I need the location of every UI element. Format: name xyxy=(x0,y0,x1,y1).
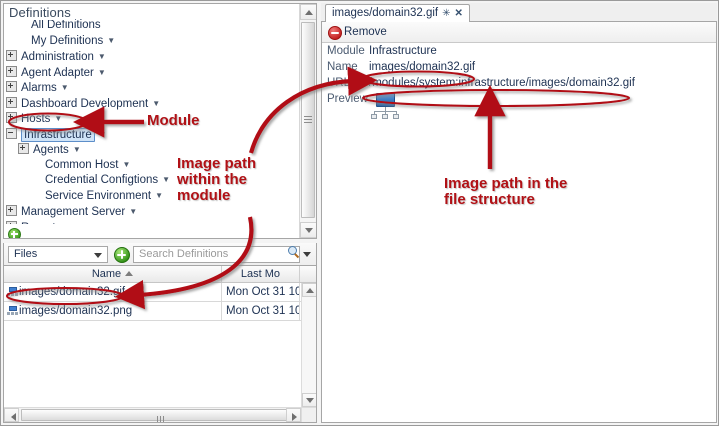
collapse-icon[interactable] xyxy=(6,128,17,139)
tree-item-label: Agent Adapter xyxy=(21,67,94,79)
chevron-down-icon xyxy=(306,398,314,403)
grip-icon xyxy=(157,413,166,423)
definitions-panel: Definitions All DefinitionsMy Definition… xyxy=(3,3,317,239)
column-header-name-label: Name xyxy=(92,268,121,280)
application-window: Definitions All DefinitionsMy Definition… xyxy=(0,0,719,426)
chevron-down-icon[interactable]: ▼ xyxy=(65,220,73,225)
tree-item-label: Reports xyxy=(21,222,61,225)
grip-icon xyxy=(304,116,312,125)
search-icon[interactable] xyxy=(288,246,300,258)
tree-vertical-scrollbar[interactable] xyxy=(299,4,316,238)
chevron-down-icon[interactable]: ▼ xyxy=(73,142,81,158)
table-row[interactable]: images/domain32.pngMon Oct 31 10: xyxy=(4,302,316,321)
files-horizontal-scrollbar[interactable] xyxy=(4,407,301,422)
cell-name: images/domain32.png xyxy=(4,302,222,320)
tree-item-service-environment[interactable]: Service Environment▼ xyxy=(4,189,300,205)
definition-type-select[interactable]: Files xyxy=(8,246,108,263)
chevron-down-icon[interactable]: ▼ xyxy=(155,188,163,204)
tree-item-reports[interactable]: Reports▼ xyxy=(4,220,300,225)
expand-icon[interactable] xyxy=(18,143,29,154)
chevron-down-icon xyxy=(305,228,313,233)
field-label: Name xyxy=(327,59,358,75)
chevron-down-icon[interactable]: ▼ xyxy=(129,204,137,220)
tree-scroll-up-button[interactable] xyxy=(300,4,317,20)
tree-spacer xyxy=(32,191,41,200)
files-table-panel: Name Last Mo images/domain32.gifMon Oct … xyxy=(3,265,317,423)
tree-item-label: My Definitions xyxy=(31,35,103,47)
tree-item-alarms[interactable]: Alarms▼ xyxy=(4,80,300,96)
tree-scroll-down-button[interactable] xyxy=(300,222,317,238)
tree-item-label: Service Environment xyxy=(45,190,151,202)
tree-item-label: Common Host xyxy=(45,159,119,171)
field-row-preview: Preview xyxy=(322,91,716,123)
tree-item-agent-adapter[interactable]: Agent Adapter▼ xyxy=(4,65,300,81)
editor-panel: Remove ModuleInfrastructureNameimages/do… xyxy=(321,22,717,423)
expand-icon[interactable] xyxy=(6,97,17,108)
tree-spacer xyxy=(18,36,27,45)
editor-toolbar: Remove xyxy=(322,22,716,43)
chevron-down-icon xyxy=(94,253,102,258)
expand-icon[interactable] xyxy=(6,112,17,123)
tree-item-my-definitions[interactable]: My Definitions▼ xyxy=(4,34,300,50)
chevron-down-icon[interactable]: ▼ xyxy=(99,127,107,143)
tree-item-label: Infrastructure xyxy=(21,128,95,142)
field-row-url: URL/modules/system:infrastructure/images… xyxy=(322,75,716,91)
definition-type-select-value: Files xyxy=(14,248,37,260)
chevron-down-icon[interactable]: ▼ xyxy=(123,157,131,173)
close-icon[interactable]: ✕ xyxy=(455,5,463,22)
field-label: Module xyxy=(327,43,365,59)
tree-spacer xyxy=(32,175,41,184)
image-file-icon xyxy=(7,306,18,315)
chevron-up-icon xyxy=(305,10,313,15)
tree-item-label: Management Server xyxy=(21,206,125,218)
field-label: URL xyxy=(327,75,350,91)
chevron-down-icon[interactable]: ▼ xyxy=(98,65,106,81)
tree-item-label: Hosts xyxy=(21,113,50,125)
preview-domain-icon xyxy=(370,93,400,119)
add-file-button[interactable] xyxy=(114,247,130,263)
definitions-tree[interactable]: All DefinitionsMy Definitions▼Administra… xyxy=(4,18,300,224)
field-row-name: Nameimages/domain32.gif xyxy=(322,59,716,75)
chevron-left-icon xyxy=(11,413,16,421)
remove-button[interactable]: Remove xyxy=(328,24,387,40)
files-scroll-right-button[interactable] xyxy=(286,408,301,422)
tree-item-label: Administration xyxy=(21,51,94,63)
tree-item-infrastructure[interactable]: Infrastructure▼ xyxy=(4,127,300,143)
cell-last-modified: Mon Oct 31 10: xyxy=(222,283,300,301)
files-table-header: Name Last Mo xyxy=(4,266,316,283)
cell-name-label: images/domain32.gif xyxy=(19,286,125,298)
tree-item-agents[interactable]: Agents▼ xyxy=(4,142,300,158)
tree-spacer xyxy=(18,20,27,29)
field-value[interactable]: /modules/system:infrastructure/images/do… xyxy=(369,75,635,91)
tree-item-label: Credential Configtions xyxy=(45,174,158,186)
tree-item-label: All Definitions xyxy=(31,19,101,31)
search-options-chevron-down-icon[interactable] xyxy=(303,252,311,257)
chevron-down-icon[interactable]: ▼ xyxy=(152,96,160,112)
image-file-icon xyxy=(7,287,18,296)
chevron-down-icon[interactable]: ▼ xyxy=(61,80,69,96)
tree-item-dashboard-development[interactable]: Dashboard Development▼ xyxy=(4,96,300,112)
tab-label: images/domain32.gif xyxy=(332,7,438,19)
files-vertical-scrollbar[interactable] xyxy=(301,283,316,407)
remove-button-label: Remove xyxy=(344,26,387,38)
tree-item-label: Agents xyxy=(33,144,69,156)
add-definition-button[interactable] xyxy=(8,228,21,239)
search-input[interactable]: Search Definitions xyxy=(133,246,300,263)
editor-tabstrip: images/domain32.gif✳✕ xyxy=(321,3,717,22)
right-column: images/domain32.gif✳✕ Remove ModuleInfra… xyxy=(321,3,717,423)
field-value[interactable]: images/domain32.gif xyxy=(369,59,475,75)
tree-item-management-server[interactable]: Management Server▼ xyxy=(4,204,300,220)
files-scroll-up-button[interactable] xyxy=(302,283,317,297)
chevron-down-icon[interactable]: ▼ xyxy=(54,111,62,127)
remove-icon xyxy=(328,26,342,40)
tab-images-domain32-gif[interactable]: images/domain32.gif✳✕ xyxy=(325,4,470,22)
sort-ascending-icon xyxy=(125,271,133,276)
table-row[interactable]: images/domain32.gifMon Oct 31 10: xyxy=(4,283,316,302)
files-toolbar: Files Search Definitions xyxy=(3,243,317,265)
chevron-down-icon[interactable]: ▼ xyxy=(162,172,170,188)
chevron-down-icon[interactable]: ▼ xyxy=(107,33,115,49)
field-value[interactable]: Infrastructure xyxy=(369,43,437,59)
field-row-module: ModuleInfrastructure xyxy=(322,43,716,59)
files-hscroll-thumb[interactable] xyxy=(21,409,301,421)
expand-icon[interactable] xyxy=(6,81,17,92)
expand-icon[interactable] xyxy=(6,221,17,225)
left-column: Definitions All DefinitionsMy Definition… xyxy=(3,3,317,423)
tree-scroll-thumb[interactable] xyxy=(301,22,315,218)
column-header-last-modified[interactable]: Last Mo xyxy=(222,266,300,282)
tree-spacer xyxy=(32,160,41,169)
field-label: Preview xyxy=(327,91,368,107)
expand-icon[interactable] xyxy=(6,66,17,77)
files-scroll-left-button[interactable] xyxy=(4,408,19,422)
tree-item-label: Alarms xyxy=(21,82,57,94)
cell-name: images/domain32.gif xyxy=(4,283,222,301)
definitions-panel-title: Definitions xyxy=(9,5,75,20)
definition-form: ModuleInfrastructureNameimages/domain32.… xyxy=(322,43,716,123)
tree-item-common-host[interactable]: Common Host▼ xyxy=(4,158,300,174)
column-header-name[interactable]: Name xyxy=(4,266,222,282)
tree-item-hosts[interactable]: Hosts▼ xyxy=(4,111,300,127)
scrollbar-corner xyxy=(301,407,316,422)
tree-item-credential-configtions[interactable]: Credential Configtions▼ xyxy=(4,173,300,189)
expand-icon[interactable] xyxy=(6,205,17,216)
chevron-right-icon xyxy=(292,413,297,421)
column-header-last-modified-label: Last Mo xyxy=(241,268,280,280)
cell-name-label: images/domain32.png xyxy=(19,305,132,317)
pin-icon[interactable]: ✳ xyxy=(442,5,450,22)
cell-last-modified: Mon Oct 31 10: xyxy=(222,302,300,320)
files-scroll-down-button[interactable] xyxy=(302,393,317,407)
chevron-down-icon[interactable]: ▼ xyxy=(98,49,106,65)
tree-item-administration[interactable]: Administration▼ xyxy=(4,49,300,65)
chevron-up-icon xyxy=(306,288,314,293)
tree-item-all-definitions[interactable]: All Definitions xyxy=(4,18,300,34)
expand-icon[interactable] xyxy=(6,50,17,61)
tree-item-label: Dashboard Development xyxy=(21,98,148,110)
